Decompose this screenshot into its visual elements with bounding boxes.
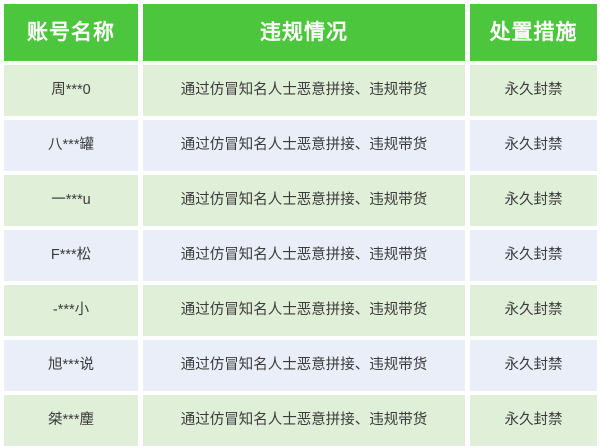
action-taken: 永久封禁: [505, 412, 563, 429]
column-header-action-label: 处置措施: [490, 20, 578, 45]
cell-action: 永久封禁: [470, 230, 597, 281]
action-taken: 永久封禁: [505, 247, 563, 264]
table-row: 一***u 通过仿冒知名人士恶意拼接、违规带货 永久封禁: [4, 175, 596, 226]
cell-violation: 通过仿冒知名人士恶意拼接、违规带货: [143, 65, 465, 116]
action-taken: 永久封禁: [505, 192, 563, 209]
action-taken: 永久封禁: [505, 137, 563, 154]
column-header-violation: 违规情况: [143, 4, 465, 61]
account-name: 八***罐: [48, 137, 94, 154]
cell-violation: 通过仿冒知名人士恶意拼接、违规带货: [143, 120, 465, 171]
violation-description: 通过仿冒知名人士恶意拼接、违规带货: [181, 137, 428, 154]
column-header-action: 处置措施: [470, 4, 597, 61]
table-row: 桀***麈 通过仿冒知名人士恶意拼接、违规带货 永久封禁: [4, 395, 596, 446]
cell-violation: 通过仿冒知名人士恶意拼接、违规带货: [143, 175, 465, 226]
violation-accounts-table: 账号名称 违规情况 处置措施 周***0 通过仿冒知名人士恶意拼接、违规带货 永…: [0, 0, 600, 435]
cell-violation: 通过仿冒知名人士恶意拼接、违规带货: [143, 230, 465, 281]
action-taken: 永久封禁: [505, 357, 563, 374]
cell-account: 周***0: [4, 65, 138, 116]
cell-account: 一***u: [4, 175, 138, 226]
cell-violation: 通过仿冒知名人士恶意拼接、违规带货: [143, 340, 465, 391]
table-row: 旭***说 通过仿冒知名人士恶意拼接、违规带货 永久封禁: [4, 340, 596, 391]
cell-account: -***小: [4, 285, 138, 336]
cell-violation: 通过仿冒知名人士恶意拼接、违规带货: [143, 285, 465, 336]
column-header-account: 账号名称: [4, 4, 138, 61]
account-name: 桀***麈: [48, 412, 94, 429]
account-name: F***松: [51, 247, 91, 264]
account-name: 周***0: [51, 82, 91, 99]
cell-action: 永久封禁: [470, 65, 597, 116]
cell-account: F***松: [4, 230, 138, 281]
cell-action: 永久封禁: [470, 395, 597, 446]
violation-description: 通过仿冒知名人士恶意拼接、违规带货: [181, 82, 428, 99]
cell-violation: 通过仿冒知名人士恶意拼接、违规带货: [143, 395, 465, 446]
cell-account: 旭***说: [4, 340, 138, 391]
table-row: 八***罐 通过仿冒知名人士恶意拼接、违规带货 永久封禁: [4, 120, 596, 171]
violation-description: 通过仿冒知名人士恶意拼接、违规带货: [181, 302, 428, 319]
account-name: 一***u: [51, 192, 91, 209]
cell-account: 八***罐: [4, 120, 138, 171]
table-row: -***小 通过仿冒知名人士恶意拼接、违规带货 永久封禁: [4, 285, 596, 336]
table-header-row: 账号名称 违规情况 处置措施: [4, 4, 596, 61]
action-taken: 永久封禁: [505, 302, 563, 319]
account-name: 旭***说: [48, 357, 94, 374]
cell-action: 永久封禁: [470, 340, 597, 391]
violation-description: 通过仿冒知名人士恶意拼接、违规带货: [181, 247, 428, 264]
violation-description: 通过仿冒知名人士恶意拼接、违规带货: [181, 412, 428, 429]
violation-description: 通过仿冒知名人士恶意拼接、违规带货: [181, 357, 428, 374]
action-taken: 永久封禁: [505, 82, 563, 99]
table-row: F***松 通过仿冒知名人士恶意拼接、违规带货 永久封禁: [4, 230, 596, 281]
violation-description: 通过仿冒知名人士恶意拼接、违规带货: [181, 192, 428, 209]
column-header-account-label: 账号名称: [27, 20, 115, 45]
column-header-violation-label: 违规情况: [260, 20, 348, 45]
cell-action: 永久封禁: [470, 175, 597, 226]
cell-action: 永久封禁: [470, 285, 597, 336]
cell-account: 桀***麈: [4, 395, 138, 446]
account-name: -***小: [53, 302, 89, 319]
table-row: 周***0 通过仿冒知名人士恶意拼接、违规带货 永久封禁: [4, 65, 596, 116]
cell-action: 永久封禁: [470, 120, 597, 171]
